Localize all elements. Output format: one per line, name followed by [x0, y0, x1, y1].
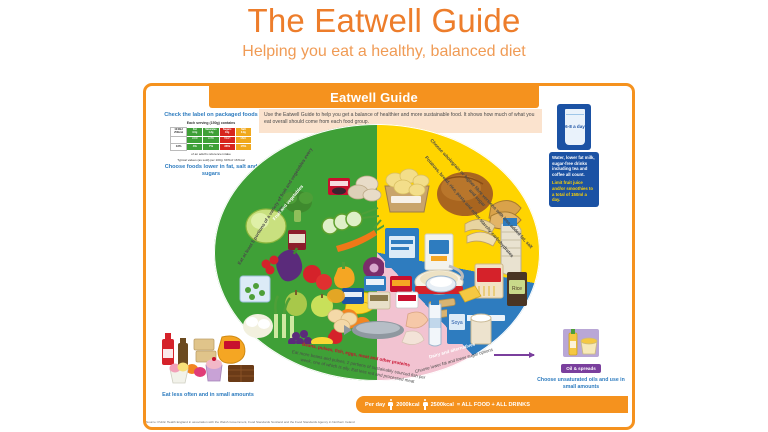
oils-caption: Choose unsaturated oils and use in small…: [531, 377, 631, 391]
per-day-bar: Per day 2000kcal 2500kcal = ALL FOOD + A…: [356, 396, 628, 413]
page-title: The Eatwell Guide: [0, 2, 768, 40]
protein-illustrations: [322, 274, 434, 354]
oils-panel: Oil & spreads Choose unsaturated oils an…: [531, 329, 631, 391]
label-panel-heading: Check the label on packaged foods: [164, 112, 258, 119]
eatwell-guide-page: The Eatwell Guide Helping you eat a heal…: [0, 0, 768, 432]
per-day-suffix: = ALL FOOD + ALL DRINKS: [457, 402, 530, 408]
page-subtitle: Helping you eat a healthy, balanced diet: [0, 42, 768, 62]
label-fat-percent: 4%: [187, 143, 203, 150]
female-person-icon: [388, 399, 393, 410]
oil-illustrations: [563, 329, 599, 357]
svg-text:Soya: Soya: [451, 320, 463, 326]
poster-title-band: Eatwell Guide: [209, 86, 539, 108]
source-attribution: Source: Public Health England in associa…: [146, 420, 566, 424]
male-person-icon: [423, 399, 428, 410]
treats-illustrations: [156, 329, 260, 385]
poster-title: Eatwell Guide: [330, 90, 418, 105]
water-line: [566, 114, 584, 115]
oil-arrow-icon: [494, 354, 534, 356]
label-energy-percent: 13%: [171, 143, 187, 150]
glass-cup: 6-8 a day: [564, 108, 586, 146]
label-energy-value: 1046kJ 250kcal: [171, 128, 187, 137]
eatwell-poster: Eatwell Guide Use the Eatwell Guide to h…: [143, 83, 635, 430]
dairy-illustrations: Soya: [419, 268, 499, 360]
treats-panel: Eat less often and in small amounts: [156, 329, 260, 399]
eatwell-plate: Rice: [214, 124, 540, 381]
water-highlight: Limit fruit juice and/or smoothies to a …: [552, 180, 596, 202]
water-text: Water, lower fat milk, sugar-free drinks…: [552, 155, 596, 177]
water-panel: 6-8 a day Water, lower fat milk, sugar-f…: [544, 104, 604, 207]
oil-badge: Oil & spreads: [561, 364, 601, 372]
male-kcal: 2500kcal: [431, 402, 454, 408]
treats-caption: Eat less often and in small amounts: [156, 392, 260, 399]
per-day-prefix: Per day: [365, 402, 385, 408]
female-kcal: 2000kcal: [396, 402, 419, 408]
glass-icon: 6-8 a day: [557, 104, 591, 150]
label-fat-value: Fat3.0g: [187, 128, 203, 137]
water-text-box: Water, lower fat milk, sugar-free drinks…: [549, 152, 599, 207]
svg-text:Rice: Rice: [512, 286, 522, 292]
poster-inner: Eatwell Guide Use the Eatwell Guide to h…: [146, 86, 632, 427]
page-headline: The Eatwell Guide Helping you eat a heal…: [0, 2, 768, 62]
glass-label: 6-8 a day: [565, 124, 585, 129]
oil-illustration-box: [563, 329, 599, 357]
